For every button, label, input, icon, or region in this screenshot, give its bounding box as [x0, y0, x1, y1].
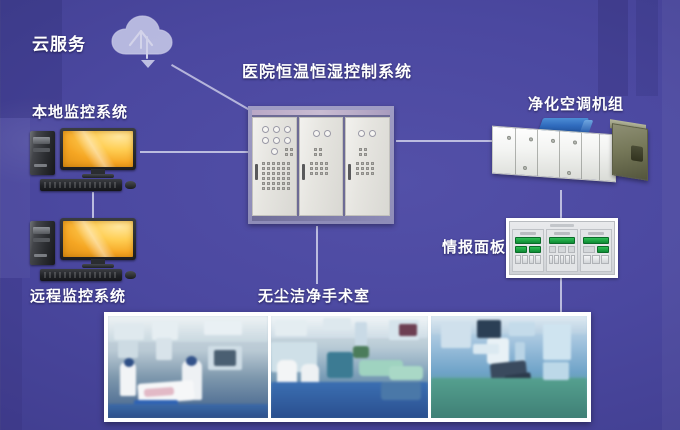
ahu-body — [492, 126, 616, 183]
pc-monitor-icon — [60, 218, 136, 264]
pc-keyboard-icon — [40, 269, 122, 281]
pc-keyboard-icon — [40, 179, 122, 191]
connector-ahu-to-info-panel — [560, 190, 562, 218]
cabinet-door-middle — [299, 117, 344, 216]
background-texture-block — [662, 0, 680, 430]
operating-room-photo — [271, 316, 428, 418]
node-label-info-panel: 情报面板 — [442, 236, 506, 257]
cabinet-door-right — [345, 117, 390, 216]
air-handling-unit-icon — [492, 118, 648, 190]
operating-room-photo — [108, 316, 268, 418]
node-label-cabinet: 医院恒温恒湿控制系统 — [242, 58, 412, 82]
connector-cabinet-to-ahu — [396, 140, 496, 142]
node-label-remote-pc: 远程监控系统 — [30, 285, 126, 306]
pc-monitor-icon — [60, 128, 136, 174]
background-texture-block — [636, 0, 658, 96]
remote-pc-icon — [24, 218, 142, 284]
node-label-operating-room: 无尘洁净手术室 — [258, 285, 370, 306]
operating-room-photo — [431, 316, 587, 418]
connector-localpc-to-cabinet — [140, 151, 248, 153]
pc-mouse-icon — [125, 181, 136, 189]
control-panel-icon — [506, 218, 618, 278]
pc-tower-icon — [30, 221, 55, 265]
node-label-ahu: 净化空调机组 — [528, 93, 624, 114]
node-label-local-pc: 本地监控系统 — [32, 101, 128, 122]
pc-mouse-icon — [125, 271, 136, 279]
local-pc-icon — [24, 128, 142, 194]
panel-module — [580, 229, 612, 272]
background-texture-block — [598, 0, 628, 96]
diagram-canvas: 云服务 本地监控系统 远程监控系统 医院恒温恒湿控制系统 — [0, 0, 680, 430]
ahu-end-module — [612, 123, 648, 181]
operating-room-photo-strip — [104, 312, 591, 422]
control-cabinet-icon — [248, 106, 394, 224]
cloud-service-icon — [100, 8, 192, 70]
panel-module — [512, 229, 544, 272]
connector-localpc-to-remotepc — [92, 192, 94, 218]
pc-tower-icon — [30, 131, 55, 175]
connector-info-panel-to-operating-room — [560, 278, 562, 312]
panel-module — [546, 229, 578, 272]
cabinet-door-left — [252, 117, 297, 216]
node-label-cloud: 云服务 — [32, 30, 86, 55]
background-texture-block — [0, 278, 22, 430]
connector-cabinet-to-operating-room — [316, 226, 318, 284]
